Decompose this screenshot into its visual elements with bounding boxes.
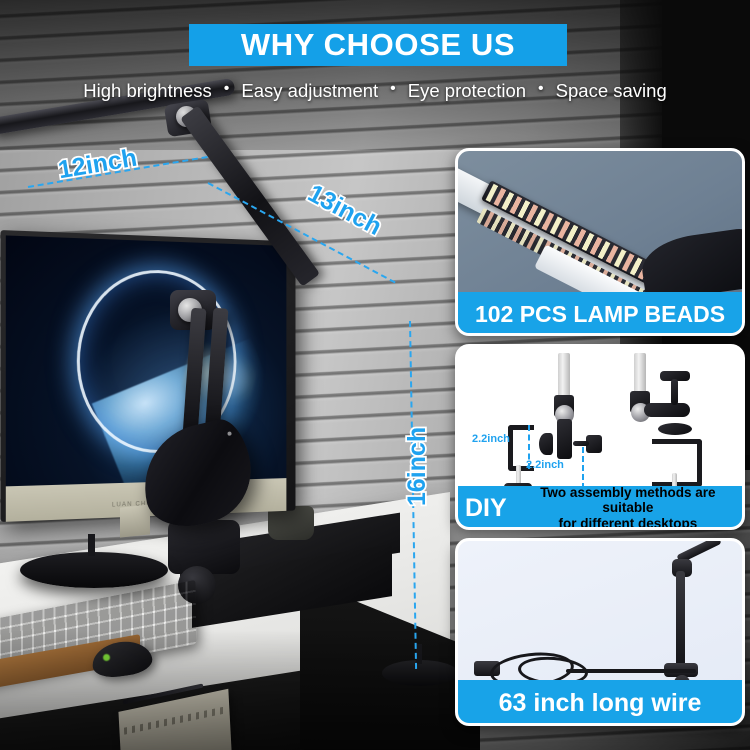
feature-list: High brightness • Easy adjustment • Eye … — [0, 78, 750, 104]
panel-diy-mount: 2.2inch 2.2inch DIY Two assembly methods… — [455, 344, 745, 530]
lamp-head-screw — [227, 431, 232, 436]
bullet-separator-icon: • — [224, 80, 230, 98]
lamp-round-base — [20, 552, 168, 588]
diy-right-dimension-arrow — [582, 447, 584, 489]
diy-badge: DIY — [465, 494, 507, 523]
dimension-label-16inch: 16inch — [403, 427, 432, 506]
diy-right-c-clamp — [652, 439, 702, 487]
diy-right-disc — [658, 423, 692, 435]
panel-caption-long-wire: 63 inch long wire — [455, 680, 745, 726]
wire-lamp-pole — [676, 571, 685, 671]
diy-left-arm — [557, 419, 572, 459]
panel-caption-lamp-beads: 102 PCS LAMP BEADS — [455, 292, 745, 336]
page-title: WHY CHOOSE US — [241, 27, 515, 63]
infographic-canvas: LUAN CHUAN 12inch 13i — [0, 0, 750, 750]
diy-right-cross-arm — [644, 403, 690, 417]
diy-caption-line1: Two assembly methods are suitable — [540, 485, 715, 515]
monitor-stand-neck — [120, 504, 150, 537]
diy-left-pole — [558, 353, 570, 401]
feature-item-3: Eye protection — [408, 80, 526, 102]
diy-left-washer — [539, 433, 553, 455]
feature-item-1: High brightness — [83, 80, 212, 102]
feature-item-4: Space saving — [556, 80, 667, 102]
feature-item-2: Easy adjustment — [241, 80, 378, 102]
lamp-base-pin — [88, 534, 95, 556]
diy-right-dimension-label: 2.2inch — [526, 459, 564, 471]
lamp-desk-clamp — [168, 520, 240, 574]
panel-lamp-beads: 102 PCS LAMP BEADS — [455, 148, 745, 336]
diy-caption-line2: for different desktops — [558, 516, 697, 530]
panel-caption-diy: DIY Two assembly methods are suitable fo… — [455, 486, 745, 530]
panel-long-wire: 63 inch long wire — [455, 538, 745, 726]
diy-right-knob-stem — [671, 379, 678, 405]
diy-left-bolt-shaft — [573, 441, 589, 446]
diy-caption-text: Two assembly methods are suitable for di… — [521, 485, 735, 530]
usb-cable-run — [566, 669, 696, 673]
diy-left-dimension-label: 2.2inch — [472, 433, 510, 445]
bullet-separator-icon: • — [538, 80, 544, 98]
bullet-separator-icon: • — [390, 80, 396, 98]
title-banner: WHY CHOOSE US — [189, 24, 567, 66]
